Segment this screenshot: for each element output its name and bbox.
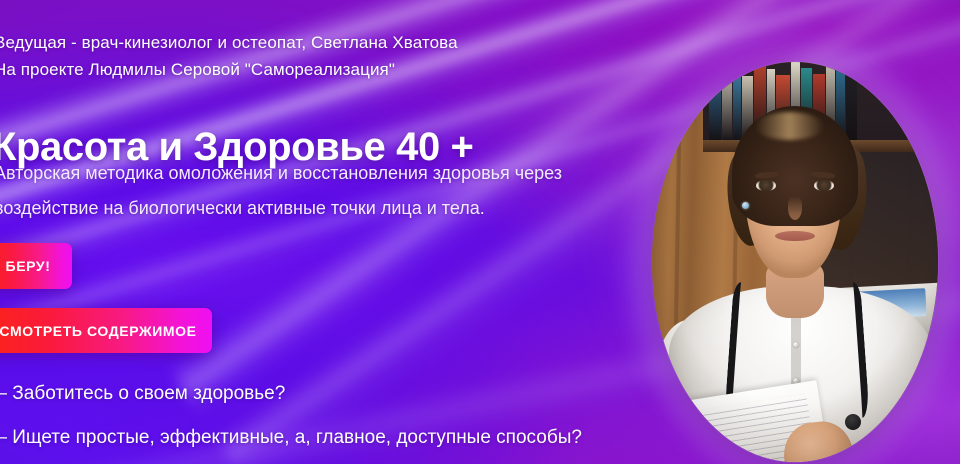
photo-vignette	[652, 62, 938, 462]
question-methods: — Ищете простые, эффективные, а, главное…	[0, 427, 582, 449]
promo-landing-hero: Ведущая - врач-кинезиолог и остеопат, Св…	[0, 0, 960, 464]
portrait-container	[652, 62, 938, 462]
hero-eyebrow-line-2: На проекте Людмилы Серовой "Самореализац…	[0, 60, 395, 80]
hero-description-line-2: воздействие на биологически активные точ…	[0, 198, 485, 219]
question-health: — Заботитесь о своем здоровье?	[0, 383, 285, 405]
hero-description-line-1: Авторская методика омоложения и восстано…	[0, 163, 562, 184]
hero-eyebrow-line-1: Ведущая - врач-кинезиолог и остеопат, Св…	[0, 33, 458, 53]
buy-button[interactable]: БЕРУ!	[0, 243, 72, 289]
avatar	[652, 62, 938, 462]
view-contents-button[interactable]: СМОТРЕТЬ СОДЕРЖИМОЕ	[0, 308, 212, 353]
hero-content: Ведущая - врач-кинезиолог и остеопат, Св…	[0, 0, 654, 464]
